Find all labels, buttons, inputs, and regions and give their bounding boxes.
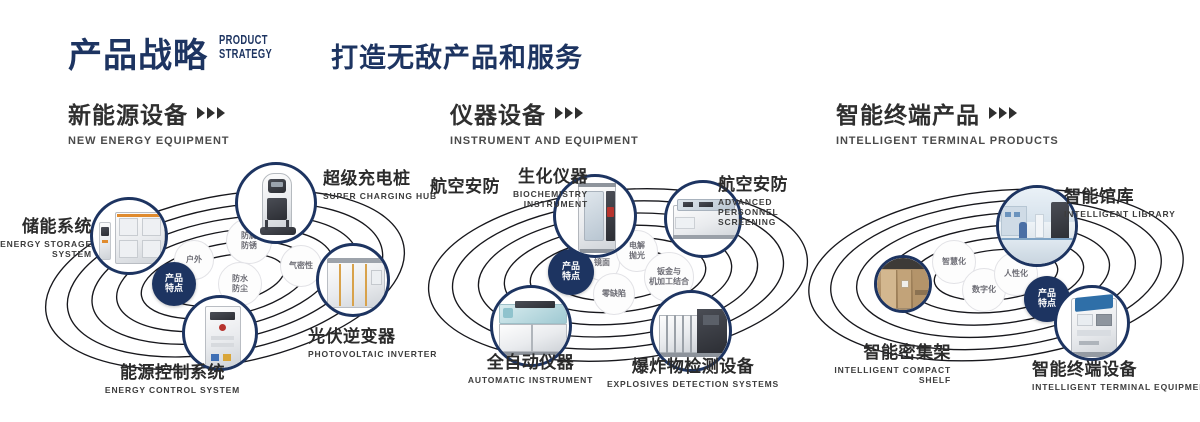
page-title-cn: 产品战略 [68,28,208,77]
feature-label: 钣金与 机加工结合 [649,267,689,287]
caption-en: ENERGY CONTROL SYSTEM [85,385,260,395]
feature-bubble: 零缺陷 [593,273,635,315]
feature-label: 零缺陷 [602,289,626,299]
page-title-en-line2: STRATEGY [219,47,272,61]
caption-cn: 能源控制系统 [85,358,260,383]
node-energy-storage[interactable] [90,197,168,275]
section-title-en: INTELLIGENT TERMINAL PRODUCTS [836,135,1059,147]
badge-label: 产品 特点 [1038,289,1056,309]
caption-intelligent-terminal-equipment: 智能终端设备 INTELLIGENT TERMINAL EQUIPMENT [1032,355,1200,392]
caption-aviation-security-extra: 航空安防 [396,172,500,197]
caption-intelligent-library: 智能馆库 INTELLIGENT LIBRARY [1064,182,1176,219]
caption-intelligent-compact-shelf: 智能密集架 INTELLIGENT COMPACT SHELF [796,338,951,385]
section-title-cn: 新能源设备 [68,96,229,130]
node-intelligent-terminal-equipment[interactable] [1054,285,1130,361]
compact-shelf-photo [877,258,929,310]
caption-en: AUTOMATIC INSTRUMENT [443,375,618,385]
caption-automatic-instrument: 全自动仪器 AUTOMATIC INSTRUMENT [443,348,618,385]
terminal-equipment-photo [1057,288,1127,358]
cluster-new-energy: 户外 防腐 防锈 气密性 防水 防尘 产品 特点 储能系统 ENERGY STO… [30,150,420,410]
caption-cn: 智能密集架 [796,338,951,363]
energy-storage-photo [93,200,165,272]
page-subtitle: 打造无敌产品和服务 [331,36,583,75]
feature-label: 气密性 [289,261,313,271]
cluster-instrument: 镜面 电解 抛光 钣金与 机加工结合 零缺陷 产品 特点 生化仪器 BIOCHE… [418,150,818,410]
caption-cn: 智能终端设备 [1032,355,1200,380]
chevron-right-icon [197,107,225,119]
caption-cn: 储能系统 [0,212,92,237]
caption-en: EXPLOSIVES DETECTION SYSTEMS [598,379,788,389]
section-title-en: INSTRUMENT AND EQUIPMENT [450,135,639,147]
caption-energy-control-system: 能源控制系统 ENERGY CONTROL SYSTEM [85,358,260,395]
caption-en: ADVANCED PERSONNEL SCREENING [718,197,818,227]
feature-label: 户外 [186,255,202,265]
pv-inverter-photo [319,246,387,314]
feature-label: 智慧化 [942,257,966,267]
node-photovoltaic-inverter[interactable] [316,243,390,317]
section-header-instrument: 仪器设备 INSTRUMENT AND EQUIPMENT [450,96,639,147]
node-intelligent-compact-shelf[interactable] [874,255,932,313]
section-header-intelligent-terminal: 智能终端产品 INTELLIGENT TERMINAL PRODUCTS [836,96,1059,147]
caption-cn: 航空安防 [718,170,818,195]
section-title-cn: 智能终端产品 [836,96,1059,130]
badge-label: 产品 特点 [562,262,580,282]
section-header-new-energy: 新能源设备 NEW ENERGY EQUIPMENT [68,96,229,147]
node-super-charging-hub[interactable] [235,162,317,244]
feature-label: 镜面 [594,258,610,268]
page-title-en: PRODUCT STRATEGY [219,33,272,61]
caption-cn: 全自动仪器 [443,348,618,373]
caption-cn: 爆炸物检测设备 [598,352,788,377]
feature-label: 人性化 [1004,269,1028,279]
feature-label: 数字化 [972,285,996,295]
charging-hub-photo [238,165,314,241]
feature-label: 防水 防尘 [232,274,248,294]
badge-label: 产品 特点 [165,274,183,294]
cluster-intelligent-terminal: 智慧化 数字化 人性化 产品 特点 智能馆库 INTELLIGENT LIBRA… [806,150,1200,410]
section-title-cn: 仪器设备 [450,96,639,130]
caption-energy-storage: 储能系统 ENERGY STORAGE SYSTEM [0,212,92,259]
chevron-right-icon [555,107,583,119]
caption-cn: 智能馆库 [1064,182,1176,207]
caption-en: INTELLIGENT LIBRARY [1064,209,1176,219]
caption-advanced-personnel-screening: 航空安防 ADVANCED PERSONNEL SCREENING [718,170,818,227]
caption-explosives-detection: 爆炸物检测设备 EXPLOSIVES DETECTION SYSTEMS [598,352,788,389]
caption-en: INTELLIGENT TERMINAL EQUIPMENT [1032,382,1200,392]
caption-en: ENERGY STORAGE SYSTEM [0,239,92,259]
page-title-en-line1: PRODUCT [219,33,272,47]
page-header: 产品战略 PRODUCT STRATEGY 打造无敌产品和服务 [0,0,1200,88]
caption-cn: 航空安防 [396,172,500,197]
chevron-right-icon [989,107,1017,119]
caption-en: INTELLIGENT COMPACT SHELF [796,365,951,385]
section-title-en: NEW ENERGY EQUIPMENT [68,135,229,147]
